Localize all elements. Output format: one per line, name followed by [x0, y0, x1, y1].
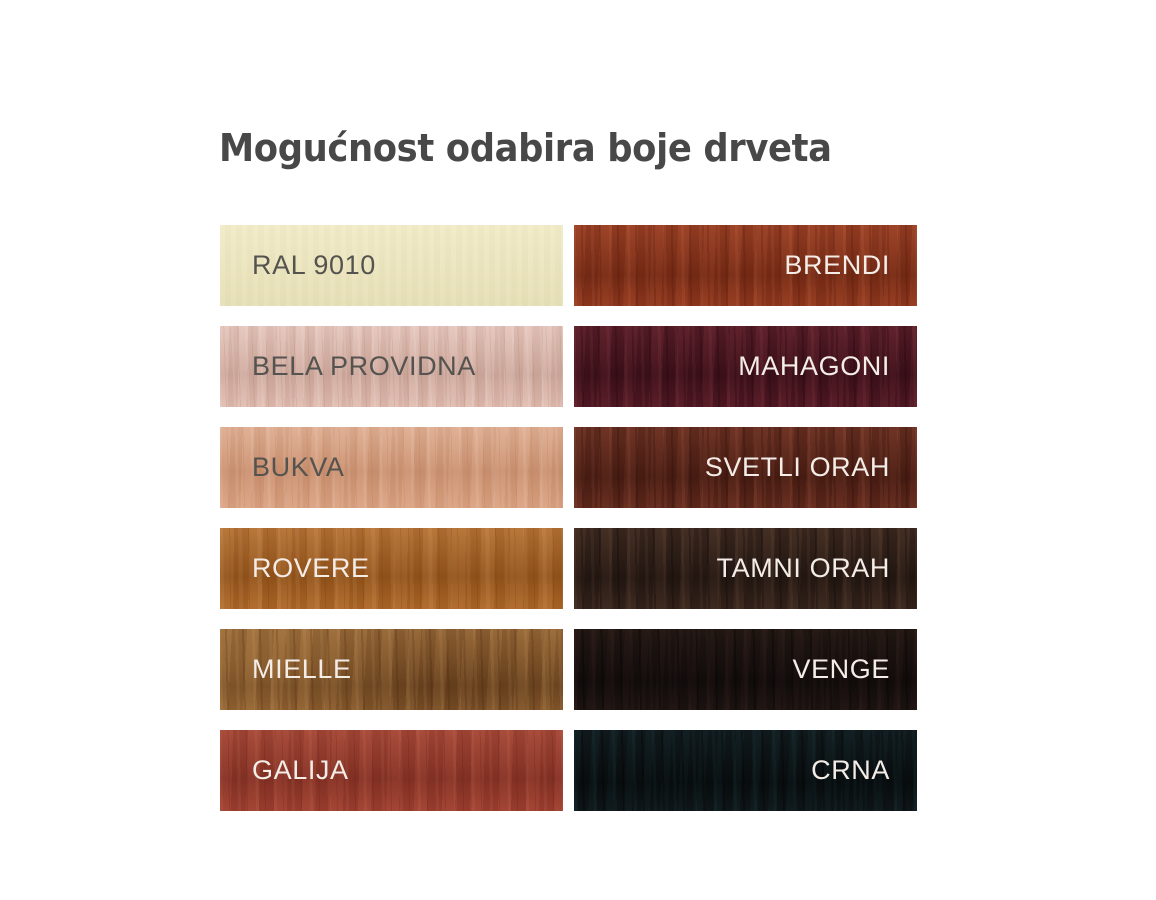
swatch-label: GALIJA [220, 755, 563, 786]
swatch-label: BRENDI [574, 250, 917, 281]
swatch-label: TAMNI ORAH [574, 553, 917, 584]
swatch-label: CRNA [574, 755, 917, 786]
swatch-label: RAL 9010 [220, 250, 563, 281]
swatch-galija[interactable]: GALIJA [220, 730, 563, 811]
swatch-rovere[interactable]: ROVERE [220, 528, 563, 609]
swatch-venge[interactable]: VENGE [574, 629, 917, 710]
wood-color-selection-page: Mogućnost odabira boje drveta RAL 9010 B… [0, 0, 1156, 900]
swatch-label: MAHAGONI [574, 351, 917, 382]
swatch-label: VENGE [574, 654, 917, 685]
page-title: Mogućnost odabira boje drveta [219, 123, 963, 173]
wood-color-swatch-grid: RAL 9010 BRENDI BELA PROVIDNA MAHAGONI B… [220, 225, 917, 811]
swatch-tamni-orah[interactable]: TAMNI ORAH [574, 528, 917, 609]
swatch-label: BUKVA [220, 452, 563, 483]
swatch-mielle[interactable]: MIELLE [220, 629, 563, 710]
swatch-ral-9010[interactable]: RAL 9010 [220, 225, 563, 306]
swatch-brendi[interactable]: BRENDI [574, 225, 917, 306]
swatch-label: BELA PROVIDNA [220, 351, 563, 382]
swatch-bela-providna[interactable]: BELA PROVIDNA [220, 326, 563, 407]
swatch-label: ROVERE [220, 553, 563, 584]
swatch-bukva[interactable]: BUKVA [220, 427, 563, 508]
swatch-label: MIELLE [220, 654, 563, 685]
swatch-svetli-orah[interactable]: SVETLI ORAH [574, 427, 917, 508]
swatch-crna[interactable]: CRNA [574, 730, 917, 811]
swatch-label: SVETLI ORAH [574, 452, 917, 483]
swatch-mahagoni[interactable]: MAHAGONI [574, 326, 917, 407]
